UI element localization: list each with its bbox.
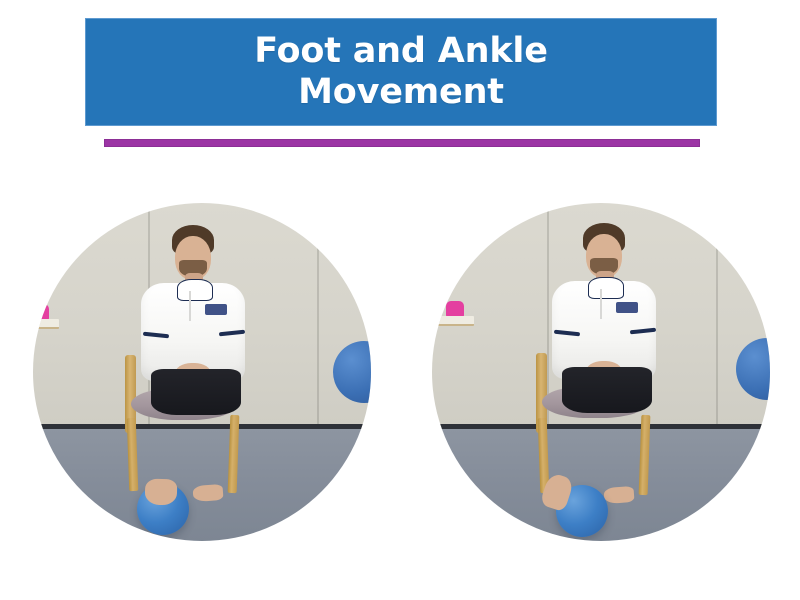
shirt-chest-logo (205, 304, 227, 315)
person-left-foot-on-ball (145, 478, 178, 505)
person-right-foot-on-floor (603, 486, 634, 504)
shirt-placket (189, 291, 191, 321)
shirt-chest-logo (616, 302, 638, 313)
shirt-collar (588, 277, 624, 299)
pink-foam-block (446, 301, 464, 317)
person-right-foot-on-floor (192, 484, 223, 502)
pink-foam-block (33, 304, 49, 320)
exercise-photo-left (33, 203, 371, 541)
photo-scene-left (33, 203, 371, 541)
shirt-placket (600, 289, 602, 319)
title-banner: Foot and Ankle Movement (86, 19, 716, 125)
wall-seam (716, 203, 718, 426)
wall-seam (317, 203, 319, 426)
side-table-top (436, 316, 474, 326)
accent-divider-rule (104, 139, 700, 147)
exercise-photo-right (432, 203, 770, 541)
photo-scene-right (432, 203, 770, 541)
page-title: Foot and Ankle Movement (254, 31, 548, 114)
shirt-collar (177, 279, 213, 301)
